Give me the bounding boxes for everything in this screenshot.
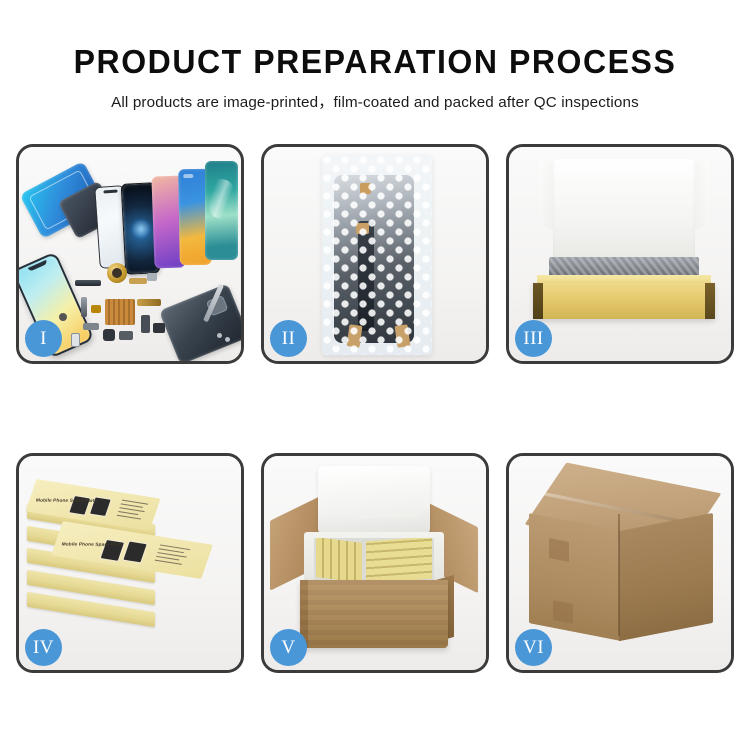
flex-cable-icon [81, 297, 87, 317]
page-subtitle: All products are image-printed，film-coat… [0, 93, 750, 112]
step-badge-5: V [270, 629, 307, 666]
green-phone-icon [205, 161, 238, 260]
sensor-part-icon [71, 333, 80, 347]
chip-array-icon [105, 299, 135, 325]
step-panel-1[interactable]: I [16, 144, 244, 364]
sim-tray-icon [153, 323, 165, 333]
step-panel-3[interactable]: III [506, 144, 734, 364]
metal-bracket-icon [147, 273, 157, 281]
sealed-carton-left-face-icon [529, 513, 621, 641]
packed-boxes-right-icon [366, 538, 432, 582]
earpiece-bar-icon [75, 280, 101, 286]
corrugation-texture [300, 580, 448, 648]
antenna-flex-icon [137, 299, 161, 306]
vibration-motor-icon [119, 331, 133, 340]
sealed-carton-right-face-icon [619, 513, 713, 641]
gold-connector-icon [91, 305, 101, 313]
phone-rear-housing-icon [159, 283, 241, 361]
yellow-box-front-icon [533, 283, 715, 319]
small-part-icon [83, 323, 99, 330]
step-panel-4[interactable]: Mobile Phone Spare Parts Mobile Phone Sp… [16, 453, 244, 673]
step-badge-4: IV [25, 629, 62, 666]
carton-front-panel-icon [300, 580, 448, 648]
bubble-texture [322, 155, 432, 355]
gold-flex-strip-icon [129, 278, 147, 284]
page-title: PRODUCT PREPARATION PROCESS [11, 42, 739, 82]
side-button-flex-icon [141, 315, 150, 333]
styrofoam-lid-icon [318, 466, 430, 534]
speaker-module-icon [107, 263, 127, 283]
box-lid-back-icon [553, 159, 695, 269]
step-panel-2[interactable]: II [261, 144, 489, 364]
step-badge-3: III [515, 320, 552, 357]
process-steps-grid: I II [16, 144, 734, 673]
carton-tape-patch-top-icon [549, 538, 569, 562]
step-badge-2: II [270, 320, 307, 357]
camera-module-icon [103, 329, 115, 341]
screw-cap-icon [59, 313, 67, 321]
step-panel-6[interactable]: VI [506, 453, 734, 673]
carton-corner-seam [618, 514, 620, 636]
box-label-text-back: Mobile Phone Spare Parts [36, 498, 98, 503]
bubble-wrap-bag-icon [322, 155, 432, 355]
step-panel-5[interactable]: V [261, 453, 489, 673]
carton-tape-patch-bottom-icon [553, 600, 573, 624]
box-label-text-front: Mobile Phone Spare Parts [61, 542, 123, 547]
step-badge-1: I [25, 320, 62, 357]
box-artwork-phone-4 [123, 542, 146, 563]
box-stack-group: Mobile Phone Spare Parts Mobile Phone Sp… [25, 470, 235, 662]
product-preparation-process-page: PRODUCT PREPARATION PROCESS All products… [0, 0, 750, 750]
page-header: PRODUCT PREPARATION PROCESS All products… [0, 0, 750, 112]
screws-icon [217, 333, 231, 343]
step-badge-6: VI [515, 629, 552, 666]
packed-boxes-left-icon [316, 538, 362, 582]
packed-boxes-group [314, 538, 434, 582]
